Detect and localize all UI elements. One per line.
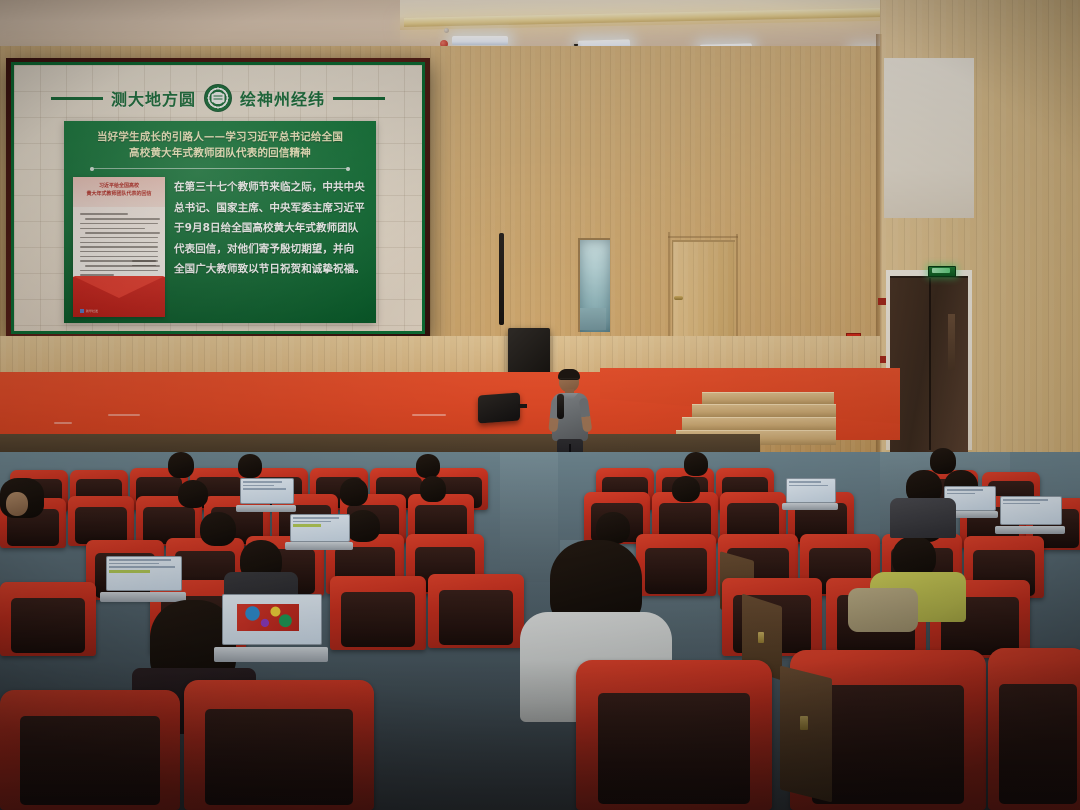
auditorium-seat[interactable] <box>330 576 426 650</box>
door-bumper <box>878 298 886 305</box>
ceiling-light-panel <box>452 36 508 45</box>
audience-head <box>178 480 208 508</box>
letter-heading-line-2: 黄大年式教师团队代表的回信 <box>77 191 161 199</box>
stage-step <box>692 404 836 418</box>
auditorium-seat[interactable] <box>636 534 716 596</box>
audience-head <box>930 448 956 474</box>
auditorium-seat[interactable] <box>0 582 96 656</box>
slide-title-line-1: 当好学生成长的引路人——学习习近平总书记给全国 <box>74 130 366 145</box>
stage-step <box>682 417 836 431</box>
audience-head <box>420 476 446 502</box>
letter-photo: 习近平给全国高校 黄大年式教师团队代表的回信 <box>73 177 165 317</box>
audience-head <box>200 512 236 546</box>
wall-seam <box>736 234 738 340</box>
exit-door-vision-panel <box>948 314 955 370</box>
header-rule-right <box>333 97 385 100</box>
audience-head <box>340 478 368 506</box>
door-handle[interactable] <box>674 296 683 300</box>
seat-number-badge <box>758 632 764 643</box>
slide-body-text: 在第三十七个教师节来临之际，中共中央 总书记、国家主席、中央军委主席习近平 于9… <box>174 177 367 317</box>
ceiling-sensor-icon <box>444 28 449 33</box>
stage-floor-mark <box>412 414 446 416</box>
slide-body-line: 在第三十七个教师节来临之际，中共中央 <box>174 177 367 197</box>
slide-header: 测大地方圆 绘神州经纬 <box>14 83 422 113</box>
auditorium-seat[interactable] <box>428 574 524 648</box>
audience-laptop <box>1000 496 1060 534</box>
slide-title-divider <box>94 168 346 169</box>
auditorium-seat-foreground[interactable] <box>0 690 180 810</box>
audience-laptop <box>106 556 180 602</box>
stage-floor-mark <box>54 422 72 424</box>
audience-head <box>672 476 700 502</box>
university-seal-logo <box>204 84 232 112</box>
letter-heading-line-1: 习近平给全国高校 <box>77 183 161 191</box>
auditorium-seat[interactable] <box>68 496 134 546</box>
audience-torso-right <box>890 498 956 538</box>
audience-head <box>238 454 262 478</box>
audience-head <box>684 452 708 476</box>
stage-speaker-cabinet <box>508 328 550 376</box>
header-rule-left <box>51 97 103 100</box>
wall-line-array-speaker <box>499 233 504 325</box>
letter-envelope-label: 新华社发 <box>80 309 98 313</box>
projection-screen[interactable]: 测大地方圆 绘神州经纬 当好学生成长的引路人——学习习近平总书记给全国 高校黄大… <box>11 62 425 334</box>
doorway-floor <box>580 308 606 330</box>
audience-laptop <box>786 478 834 510</box>
stage-floor-monitor-speaker <box>478 393 520 424</box>
seat-number-badge <box>800 716 808 730</box>
audience-head <box>346 510 380 542</box>
letter-signature <box>132 260 156 269</box>
slide-body-line: 代表回信，对他们寄予殷切期望，并向 <box>174 239 367 259</box>
slide-title-line-2: 高校黄大年式教师团队代表的回信精神 <box>74 146 366 161</box>
letter-envelope-credit: 新华社发 <box>86 309 98 313</box>
audience-laptop <box>240 478 292 512</box>
slide-body-line: 总书记、国家主席、中央军委主席习近平 <box>174 198 367 218</box>
auditorium-seat-foreground[interactable] <box>988 648 1080 810</box>
audience-laptop <box>290 514 348 550</box>
audience-laptop-foreground <box>222 594 320 662</box>
seal-inner-emblem <box>212 94 225 103</box>
center-aisle <box>500 452 558 582</box>
auditorium-seat-foreground[interactable] <box>576 660 772 810</box>
lecture-hall-room: 测大地方圆 绘神州经纬 当好学生成长的引路人——学习习近平总书记给全国 高校黄大… <box>0 0 1080 810</box>
presenter-glasses <box>560 378 578 383</box>
stage-left-closed-door[interactable] <box>672 240 735 340</box>
wall-seam <box>668 232 670 342</box>
stage-floor-mark <box>108 414 140 416</box>
monitor-cable <box>518 404 527 408</box>
microphone <box>557 394 564 419</box>
audience-head <box>416 454 440 478</box>
auditorium-seat-foreground[interactable] <box>184 680 374 810</box>
exit-door-center-split <box>929 278 931 450</box>
seat-side-panel <box>780 666 832 803</box>
header-text-left: 测大地方圆 <box>111 86 196 110</box>
presentation-slide: 测大地方圆 绘神州经纬 当好学生成长的引路人——学习习近平总书记给全国 高校黄大… <box>11 62 425 334</box>
slide-body-line: 于9月8日给全国高校黄大年式教师团队 <box>174 218 367 238</box>
audience-legs-khaki <box>848 588 918 632</box>
slide-body-line: 全国广大教师致以节日祝贺和诚挚祝福。 <box>174 259 367 279</box>
slide-green-card: 当好学生成长的引路人——学习习近平总书记给全国 高校黄大年式教师团队代表的回信精… <box>64 121 376 323</box>
wall-white-column <box>884 58 974 218</box>
audience-head <box>168 452 194 478</box>
wall-seam <box>668 236 738 238</box>
exit-sign-glyph-icon <box>932 268 950 273</box>
slide-body: 习近平给全国高校 黄大年式教师团队代表的回信 <box>73 177 367 317</box>
auditorium-scene: 测大地方圆 绘神州经纬 当好学生成长的引路人——学习习近平总书记给全国 高校黄大… <box>0 0 1080 810</box>
audience-face <box>6 492 28 516</box>
header-text-right: 绘神州经纬 <box>240 86 325 110</box>
